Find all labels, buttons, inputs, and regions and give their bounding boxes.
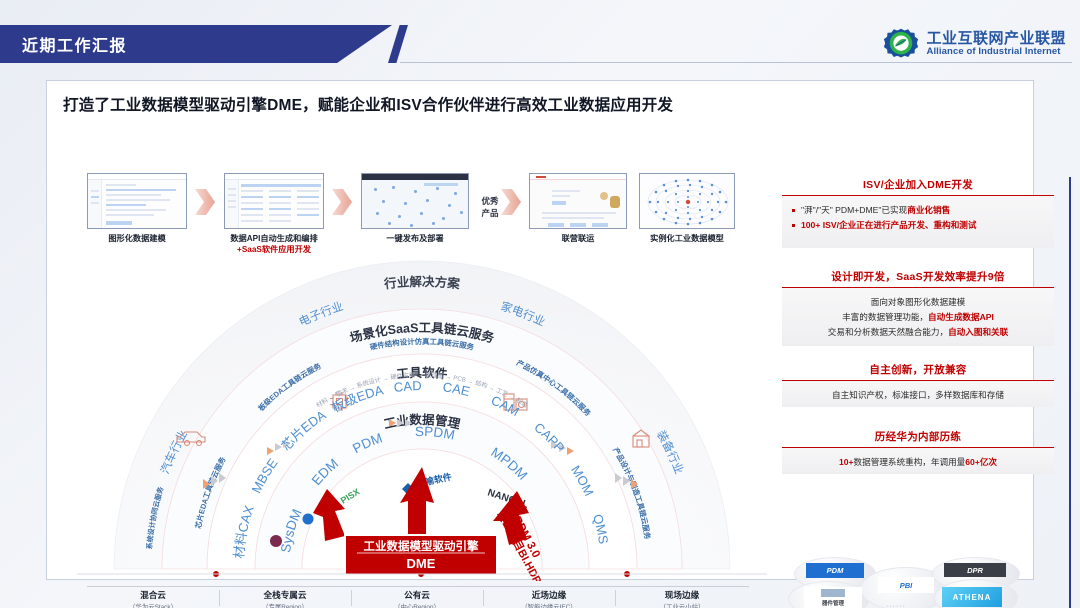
pipeline-thumb-5 [639,173,735,229]
header-slash-decoration [388,25,408,63]
chevron-arrow-icon-2 [332,189,352,215]
logo-part-mgmt: 器件管理 [804,587,862,608]
panel-saas-line-2: 丰富的数据管理功能，自动生成数据API [792,310,1044,325]
badge-line-2: 产品 [481,208,498,218]
panel-saas-line-2-red: 自动生成数据API [928,312,994,322]
axis-cell-2-main: 公有云 [351,589,483,601]
panel-isv: ISV/企业加入DME开发 "湃"/"天" PDM+DME"已实现商业化销售 1… [782,177,1054,248]
chevron-arrow-icon-3 [501,189,521,215]
axis-cell-0: 混合云 （华为云Stack） [87,589,219,608]
pipeline-step-1: 图形化数据建模 [87,173,187,244]
dme-box-line2: DME [407,556,436,571]
panel-innovation-line-1: 自主知识产权，标准接口，多样数据库和存储 [792,388,1044,403]
product-logo-cloud: PDM DPR PBI ATHENA 器件管理 ······ [782,557,1054,608]
axis-cell-2: 公有云 （中心Region） [351,589,483,608]
org-logo-cn: 工业互联网产业联盟 [926,31,1066,47]
pipeline-step-4: 联营联运 [529,173,627,244]
axis-cell-1-sub: （专属Region） [219,602,351,608]
axis-cell-3-sub: （智能边缘云IEC） [483,602,615,608]
panel-saas-body: 面向对象图形化数据建模 丰富的数据管理功能，自动生成数据API 交易和分析数据天… [782,288,1054,346]
pipeline-step-5: 实例化工业数据模型 [639,173,735,244]
badge-line-1: 优秀 [481,196,498,206]
pipeline-step-3: 一键发布及部署 [361,173,469,244]
logo-pdm: PDM [806,563,864,578]
panel-innovation: 自主创新，开放兼容 自主知识产权，标准接口，多样数据库和存储 [782,362,1054,407]
logo-ellipsis: ······ [886,603,906,608]
gear-leaf-icon [883,26,919,62]
pipeline-thumb-3 [361,173,469,229]
panel-saas-line-1-plain: 面向对象图形化数据建模 [871,297,966,307]
chevron-arrow-icon-1 [195,189,215,215]
panel-huawei-mid: 数据管理系统重构，年调用量 [854,457,966,467]
axis-cell-4-main: 现场边缘 [615,589,749,601]
panel-isv-line-1: "湃"/"天" PDM+DME"已实现商业化销售 [792,203,1044,218]
panel-saas-title: 设计即开发，SaaS开发效率提升9倍 [782,269,1054,288]
header-rule [400,62,1072,63]
axis-cell-1: 全栈专属云 （专属Region） [219,589,351,608]
page-title: 打造了工业数据模型驱动引擎DME，赋能企业和ISV合作伙伴进行高效工业数据应用开… [63,93,673,115]
panel-huawei: 历经华为内部历练 10+数据管理系统重构，年调用量60+亿次 [782,429,1054,474]
radial-model-graphic [640,174,735,229]
header-title: 近期工作汇报 [0,32,127,56]
vertical-divider [1069,177,1071,608]
chip-glyph-icon [821,589,845,597]
pipeline-caption-5: 实例化工业数据模型 [639,233,735,244]
pipeline-thumb-4 [529,173,627,229]
deployment-axis: 混合云 （华为云Stack） 全栈专属云 （专属Region） 公有云 （中心R… [87,586,749,608]
pipeline-step-2: 数据API自动生成和编排 +SaaS软件应用开发 [224,173,324,255]
panel-isv-line-2: 100+ ISV/企业正在进行产品开发、重构和测试 [792,218,1044,233]
panel-saas-line-3-plain: 交易和分析数据天然融合能力， [828,327,948,337]
panel-innovation-body: 自主知识产权，标准接口，多样数据库和存储 [782,381,1054,407]
pipeline-caption-4: 联营联运 [529,233,627,244]
axis-line [87,586,749,587]
panel-isv-line-1-red: 商业化销售 [907,205,950,215]
slide-root: 近期工作汇报 工业互联网产业联盟 Alliance of Industrial … [0,0,1080,608]
header-band: 近期工作汇报 [0,25,392,63]
pipeline-caption-2-line1: 数据API自动生成和编排 [230,234,317,243]
partner-logo-0 [270,535,282,547]
pipeline-caption-3: 一键发布及部署 [361,233,469,244]
logo-part-mgmt-label: 器件管理 [822,599,844,607]
panel-huawei-title: 历经华为内部历练 [782,429,1054,448]
panel-saas-line-2-plain: 丰富的数据管理功能， [842,312,928,322]
panel-isv-title: ISV/企业加入DME开发 [782,177,1054,196]
panel-innovation-title: 自主创新，开放兼容 [782,362,1054,381]
panel-huawei-n1: 10+ [839,457,854,467]
dme-box-line1: 工业数据模型驱动引擎 [364,539,479,553]
axis-cell-4-sub: （工业云小站） [615,602,749,608]
axis-cell-2-sub: （中心Region） [351,602,483,608]
axis-cell-3-main: 近场边缘 [483,589,615,601]
pipeline-strip: 图形化数据建模 [87,173,747,263]
panel-huawei-line-1: 10+数据管理系统重构，年调用量60+亿次 [792,455,1044,470]
pipeline-thumb-2 [224,173,324,229]
center-dme-box: 工业数据模型驱动引擎 DME [345,535,497,575]
panel-huawei-body: 10+数据管理系统重构，年调用量60+亿次 [782,448,1054,474]
panel-saas-line-1: 面向对象图形化数据建模 [792,295,1044,310]
axis-cell-0-sub: （华为云Stack） [87,602,219,608]
panel-huawei-n2: 60+亿次 [965,457,997,467]
org-logo-en: Alliance of Industrial Internet [926,47,1066,57]
excellent-product-badge: 优秀 产品 [479,195,501,220]
axis-cell-3: 近场边缘 （智能边缘云IEC） [483,589,615,608]
panel-isv-line-2-red: 100+ ISV/企业正在进行产品开发、重构和测试 [801,220,977,230]
org-logo: 工业互联网产业联盟 Alliance of Industrial Interne… [883,26,1066,62]
arc-svg: 行业解决方案 场景化SaaS工具链云服务 工具软件 工业数据管理 汽车行业 电子… [77,251,767,581]
panel-isv-line-1-plain: "湃"/"天" PDM+DME"已实现 [801,205,907,215]
panel-saas: 设计即开发，SaaS开发效率提升9倍 面向对象图形化数据建模 丰富的数据管理功能… [782,269,1054,346]
axis-cell-0-main: 混合云 [87,589,219,601]
arc-ring-title-0: 行业解决方案 [382,274,461,292]
panel-saas-line-3: 交易和分析数据天然融合能力，自动入图和关联 [792,325,1044,340]
pipeline-thumb-1 [87,173,187,229]
axis-cell-4: 现场边缘 （工业云小站） [615,589,749,608]
partner-logo-1 [303,514,314,525]
axis-cell-1-main: 全栈专属云 [219,589,351,601]
logo-dpr: DPR [944,563,1006,577]
pipeline-caption-1: 图形化数据建模 [87,233,187,244]
rainbow-arc-diagram: 行业解决方案 场景化SaaS工具链云服务 工具软件 工业数据管理 汽车行业 电子… [77,251,767,581]
logo-pbi: PBI [878,577,934,593]
panel-saas-line-3-red: 自动入图和关联 [948,327,1008,337]
content-card: 打造了工业数据模型驱动引擎DME，赋能企业和ISV合作伙伴进行高效工业数据应用开… [46,80,1034,580]
panel-isv-body: "湃"/"天" PDM+DME"已实现商业化销售 100+ ISV/企业正在进行… [782,196,1054,248]
logo-athena: ATHENA [942,587,1002,607]
